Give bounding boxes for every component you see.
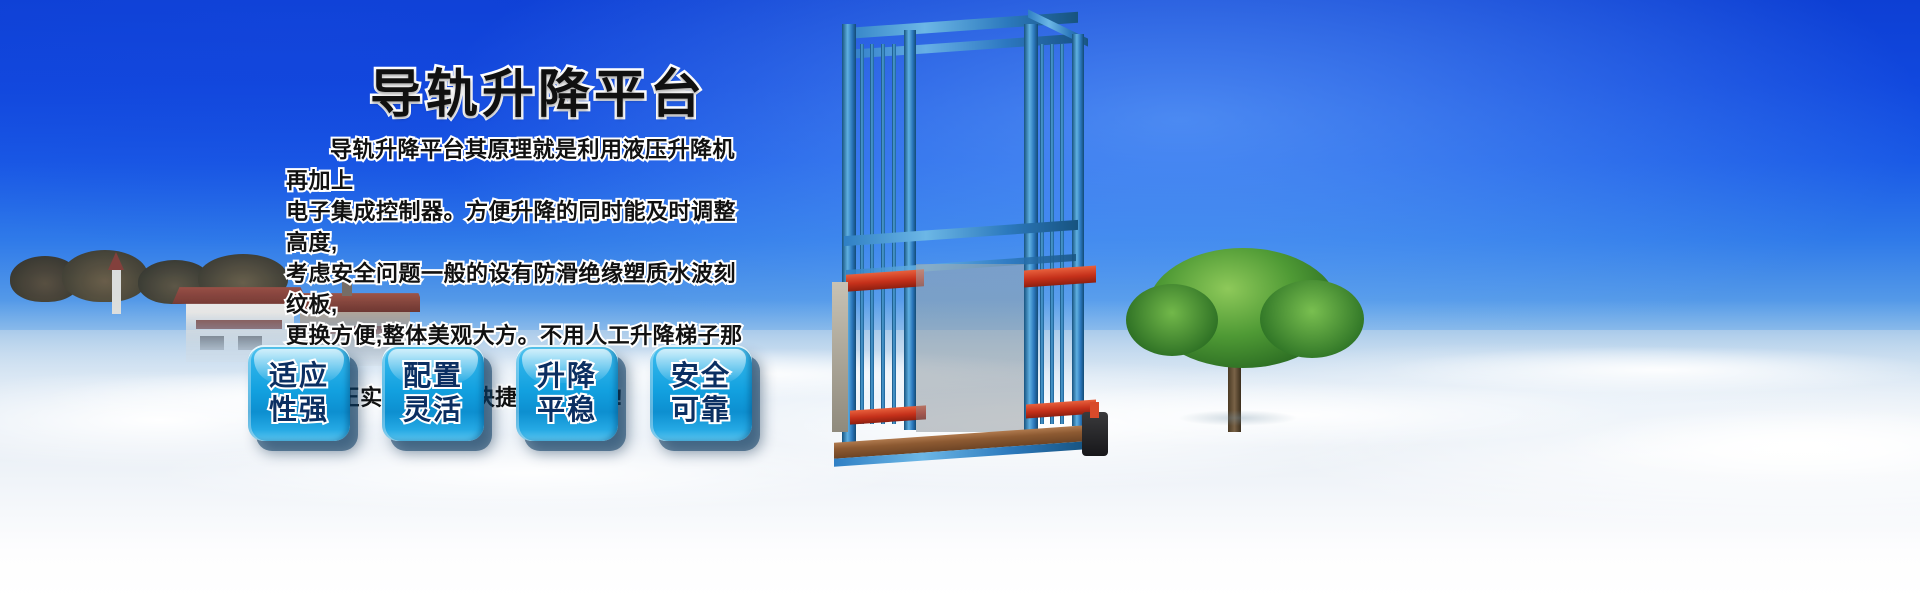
tree-canopy-right: [1260, 280, 1364, 358]
cloud-streak: [1380, 346, 1920, 394]
feature-button-smooth-lifting[interactable]: 升降 平稳: [516, 345, 618, 441]
guide-rail-lift-machine: [828, 14, 1128, 480]
machine-column-left-back: [904, 30, 916, 430]
machine-side-panel: [832, 282, 848, 432]
page-title: 导轨升降平台: [370, 52, 706, 127]
feature-button-label: 适应 性强: [269, 359, 329, 427]
description-line: 电子集成控制器。方便升降的同时能及时调整高度,: [286, 196, 756, 258]
feature-button-label: 安全 可靠: [671, 359, 731, 427]
feature-buttons: 适应 性强 配置 灵活 升降 平稳 安全 可靠: [248, 345, 752, 441]
tree-shadow: [1178, 410, 1298, 426]
promo-banner: 导轨升降平台 导轨升降平台其原理就是利用液压升降机再加上 电子集成控制器。方便升…: [0, 0, 1920, 600]
machine-red-crosshead-right: [1024, 265, 1096, 287]
feature-button-label: 配置 灵活: [403, 359, 463, 427]
cloud-streak: [150, 434, 910, 512]
machine-cage-panel: [916, 264, 1024, 432]
machine-column-right-front: [1024, 24, 1038, 444]
chalet-window: [200, 336, 224, 350]
feature-button-adaptability[interactable]: 适应 性强: [248, 345, 350, 441]
description-line: 考虑安全问题一般的设有防滑绝缘塑质水波刻纹板,: [286, 258, 756, 320]
machine-power-unit: [1082, 412, 1108, 456]
feature-button-label: 升降 平稳: [537, 359, 597, 427]
tree-clump-icon: [62, 250, 148, 302]
green-tree: [1120, 240, 1370, 430]
machine-power-indicator: [1090, 402, 1099, 418]
steeple-roof: [108, 252, 124, 270]
guide-rail: [1050, 44, 1054, 424]
description-line: 导轨升降平台其原理就是利用液压升降机再加上: [286, 134, 756, 196]
tree-canopy-left: [1126, 284, 1218, 356]
guide-rail: [1060, 44, 1064, 424]
church-steeple: [112, 266, 121, 314]
guide-rail: [1040, 44, 1044, 424]
feature-button-safety[interactable]: 安全 可靠: [650, 345, 752, 441]
cloud-streak: [1560, 408, 1920, 480]
feature-button-configuration[interactable]: 配置 灵活: [382, 345, 484, 441]
chalet-white-balcony: [196, 320, 282, 329]
